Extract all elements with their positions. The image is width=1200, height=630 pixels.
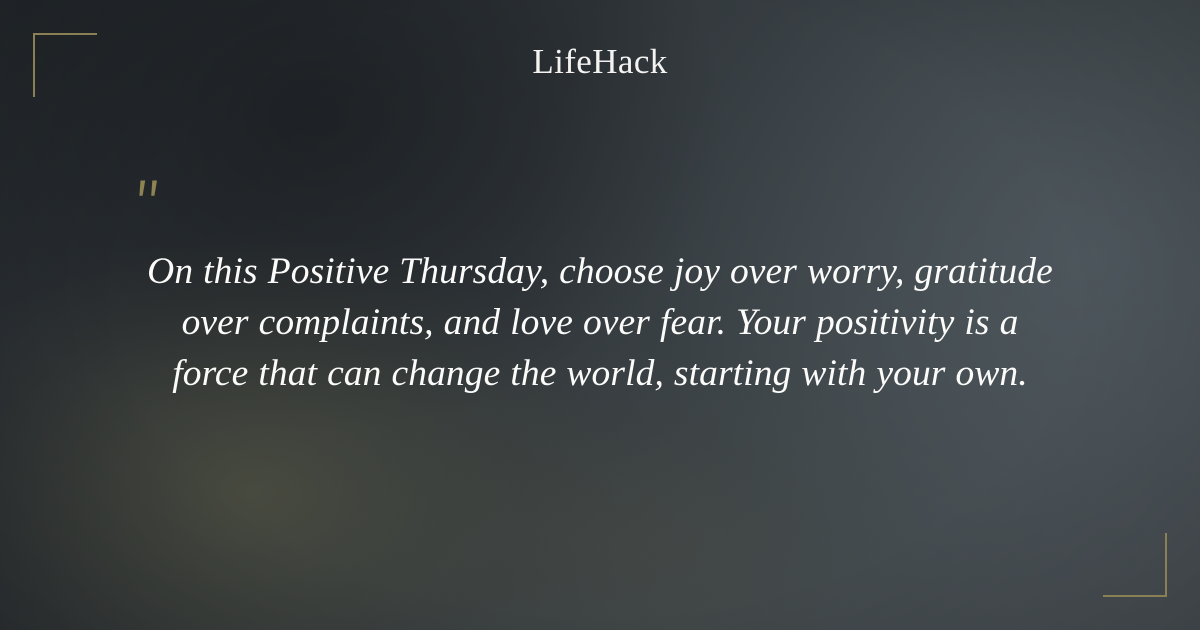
quote-card: LifeHack On this Positive Thursday, choo… xyxy=(0,0,1200,630)
corner-bracket-bottom-right-icon xyxy=(1103,533,1167,597)
brand-logo-text: LifeHack xyxy=(0,40,1200,84)
quote-line-1: On this Positive Thursday, choose joy ov… xyxy=(95,246,1105,297)
quote-line-3: force that can change the world, startin… xyxy=(95,348,1105,399)
quote-mark-icon xyxy=(128,150,188,210)
quote-text-block: On this Positive Thursday, choose joy ov… xyxy=(95,246,1105,399)
quote-line-2: over complaints, and love over fear. You… xyxy=(95,297,1105,348)
